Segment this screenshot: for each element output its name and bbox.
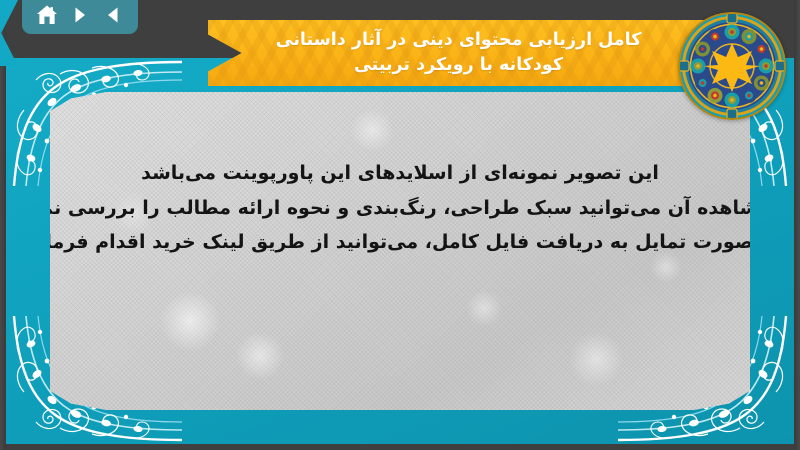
title-line-2: کودکانه با رویکرد تربیتی (354, 53, 563, 78)
home-icon (36, 4, 58, 26)
navigation-bar[interactable] (22, 0, 138, 34)
triangle-left-icon (103, 5, 123, 25)
persian-medallion-icon (678, 12, 786, 120)
decorative-frame: این تصویر نمونه‌ای از اسلایدهای این پاور… (6, 58, 794, 444)
back-button[interactable] (101, 3, 125, 27)
slide-canvas: این تصویر نمونه‌ای از اسلایدهای این پاور… (0, 0, 800, 450)
body-line-3: در صورت تمایل به دریافت فایل کامل، می‌تو… (20, 229, 781, 257)
title-banner: کامل ارزیابی محتوای دینی در آثار داستانی… (208, 20, 733, 86)
triangle-right-icon (70, 5, 90, 25)
forward-button[interactable] (68, 3, 92, 27)
body-line-1: این تصویر نمونه‌ای از اسلایدهای این پاور… (141, 160, 659, 188)
right-edge-strip (794, 0, 800, 450)
title-line-1: کامل ارزیابی محتوای دینی در آثار داستانی (276, 28, 642, 53)
body-line-2: با مشاهده آن می‌توانید سبک طراحی، رنگ‌بن… (8, 195, 791, 223)
slide-content-panel: این تصویر نمونه‌ای از اسلایدهای این پاور… (50, 92, 750, 410)
page-title: کامل ارزیابی محتوای دینی در آثار داستانی… (208, 20, 733, 86)
home-button[interactable] (35, 3, 59, 27)
slide-body-text: این تصویر نمونه‌ای از اسلایدهای این پاور… (50, 160, 750, 257)
